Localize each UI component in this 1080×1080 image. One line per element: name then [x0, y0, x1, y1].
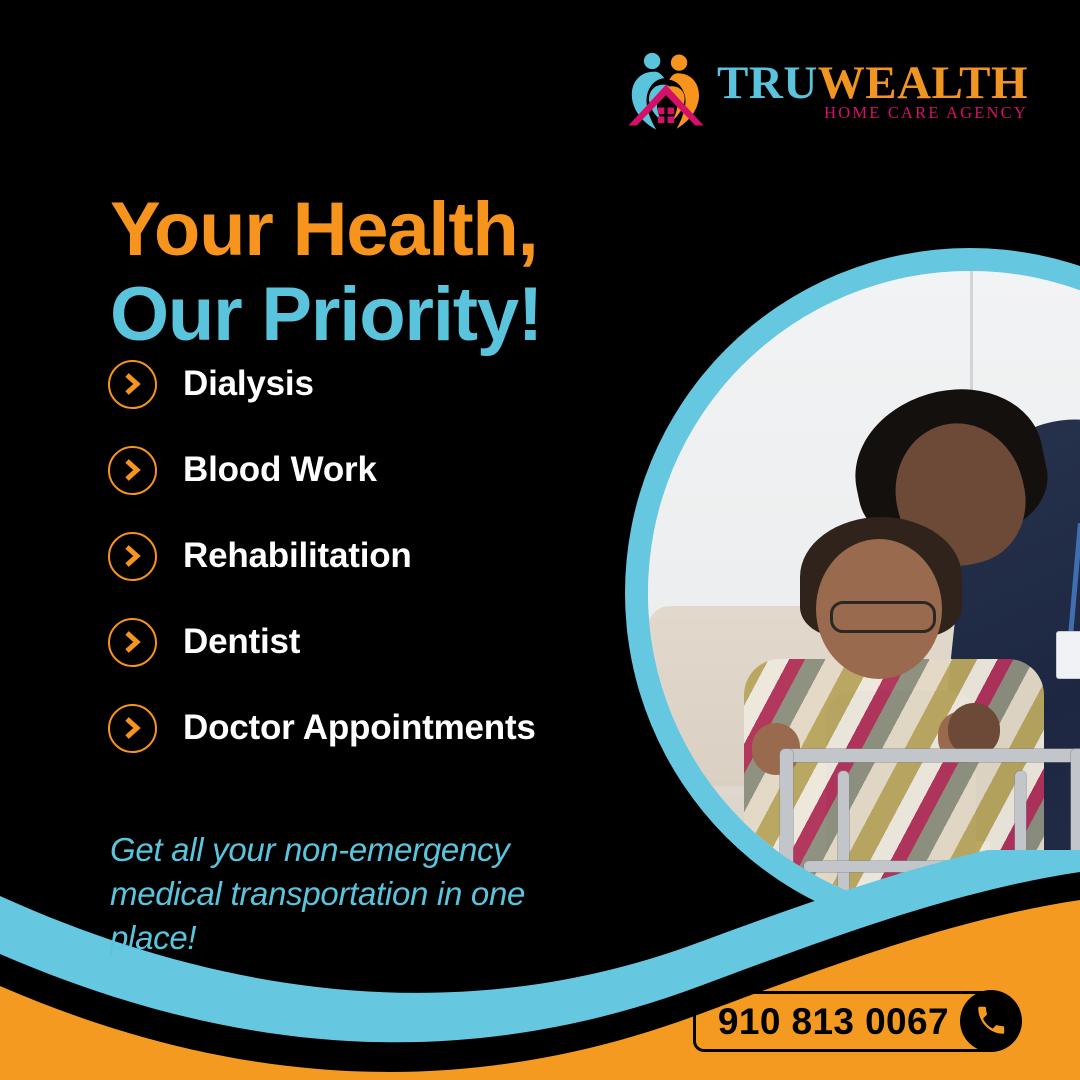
phone-handset-icon[interactable]	[960, 990, 1022, 1052]
list-item[interactable]: Dentist	[108, 618, 536, 666]
services-list: Dialysis Blood Work Rehabilitation Denti…	[108, 360, 536, 752]
service-label: Dentist	[183, 622, 300, 662]
headline-line-1: Your Health,	[110, 187, 542, 272]
service-label: Rehabilitation	[183, 536, 412, 576]
service-label: Dialysis	[183, 364, 314, 404]
brand-name-part2: WEALTH	[818, 57, 1028, 109]
chevron-right-icon	[108, 446, 157, 495]
photo-circle-image	[648, 271, 1080, 915]
tagline-text: Get all your non-emergency medical trans…	[110, 828, 580, 961]
list-item[interactable]: Blood Work	[108, 446, 536, 494]
service-label: Doctor Appointments	[183, 708, 536, 748]
truwealth-heart-house-logo-icon	[625, 52, 707, 132]
service-label: Blood Work	[183, 450, 377, 490]
page-title: Your Health, Our Priority!	[110, 187, 542, 357]
headline-line-2: Our Priority!	[110, 272, 542, 357]
brand-logo[interactable]: TRUWEALTH HOME CARE AGENCY	[625, 52, 1028, 132]
brand-name-part1: TRU	[717, 57, 818, 109]
id-badge	[1056, 631, 1080, 679]
eyeglasses-icon	[830, 601, 936, 633]
brand-subtitle: HOME CARE AGENCY	[824, 103, 1028, 123]
phone-number[interactable]: 910 813 0067	[693, 991, 998, 1052]
brand-wordmark: TRUWEALTH	[717, 61, 1028, 106]
phone-cta[interactable]: 910 813 0067	[693, 990, 1022, 1052]
promo-poster: TRUWEALTH HOME CARE AGENCY Your Health, …	[0, 0, 1080, 1080]
list-item[interactable]: Doctor Appointments	[108, 704, 536, 752]
list-item[interactable]: Rehabilitation	[108, 532, 536, 580]
chevron-right-icon	[108, 532, 157, 581]
photo-circle-frame	[625, 248, 1080, 938]
chevron-right-icon	[108, 618, 157, 667]
chevron-right-icon	[108, 360, 157, 409]
chevron-right-icon	[108, 704, 157, 753]
home-care-photo	[648, 271, 1080, 915]
list-item[interactable]: Dialysis	[108, 360, 536, 408]
